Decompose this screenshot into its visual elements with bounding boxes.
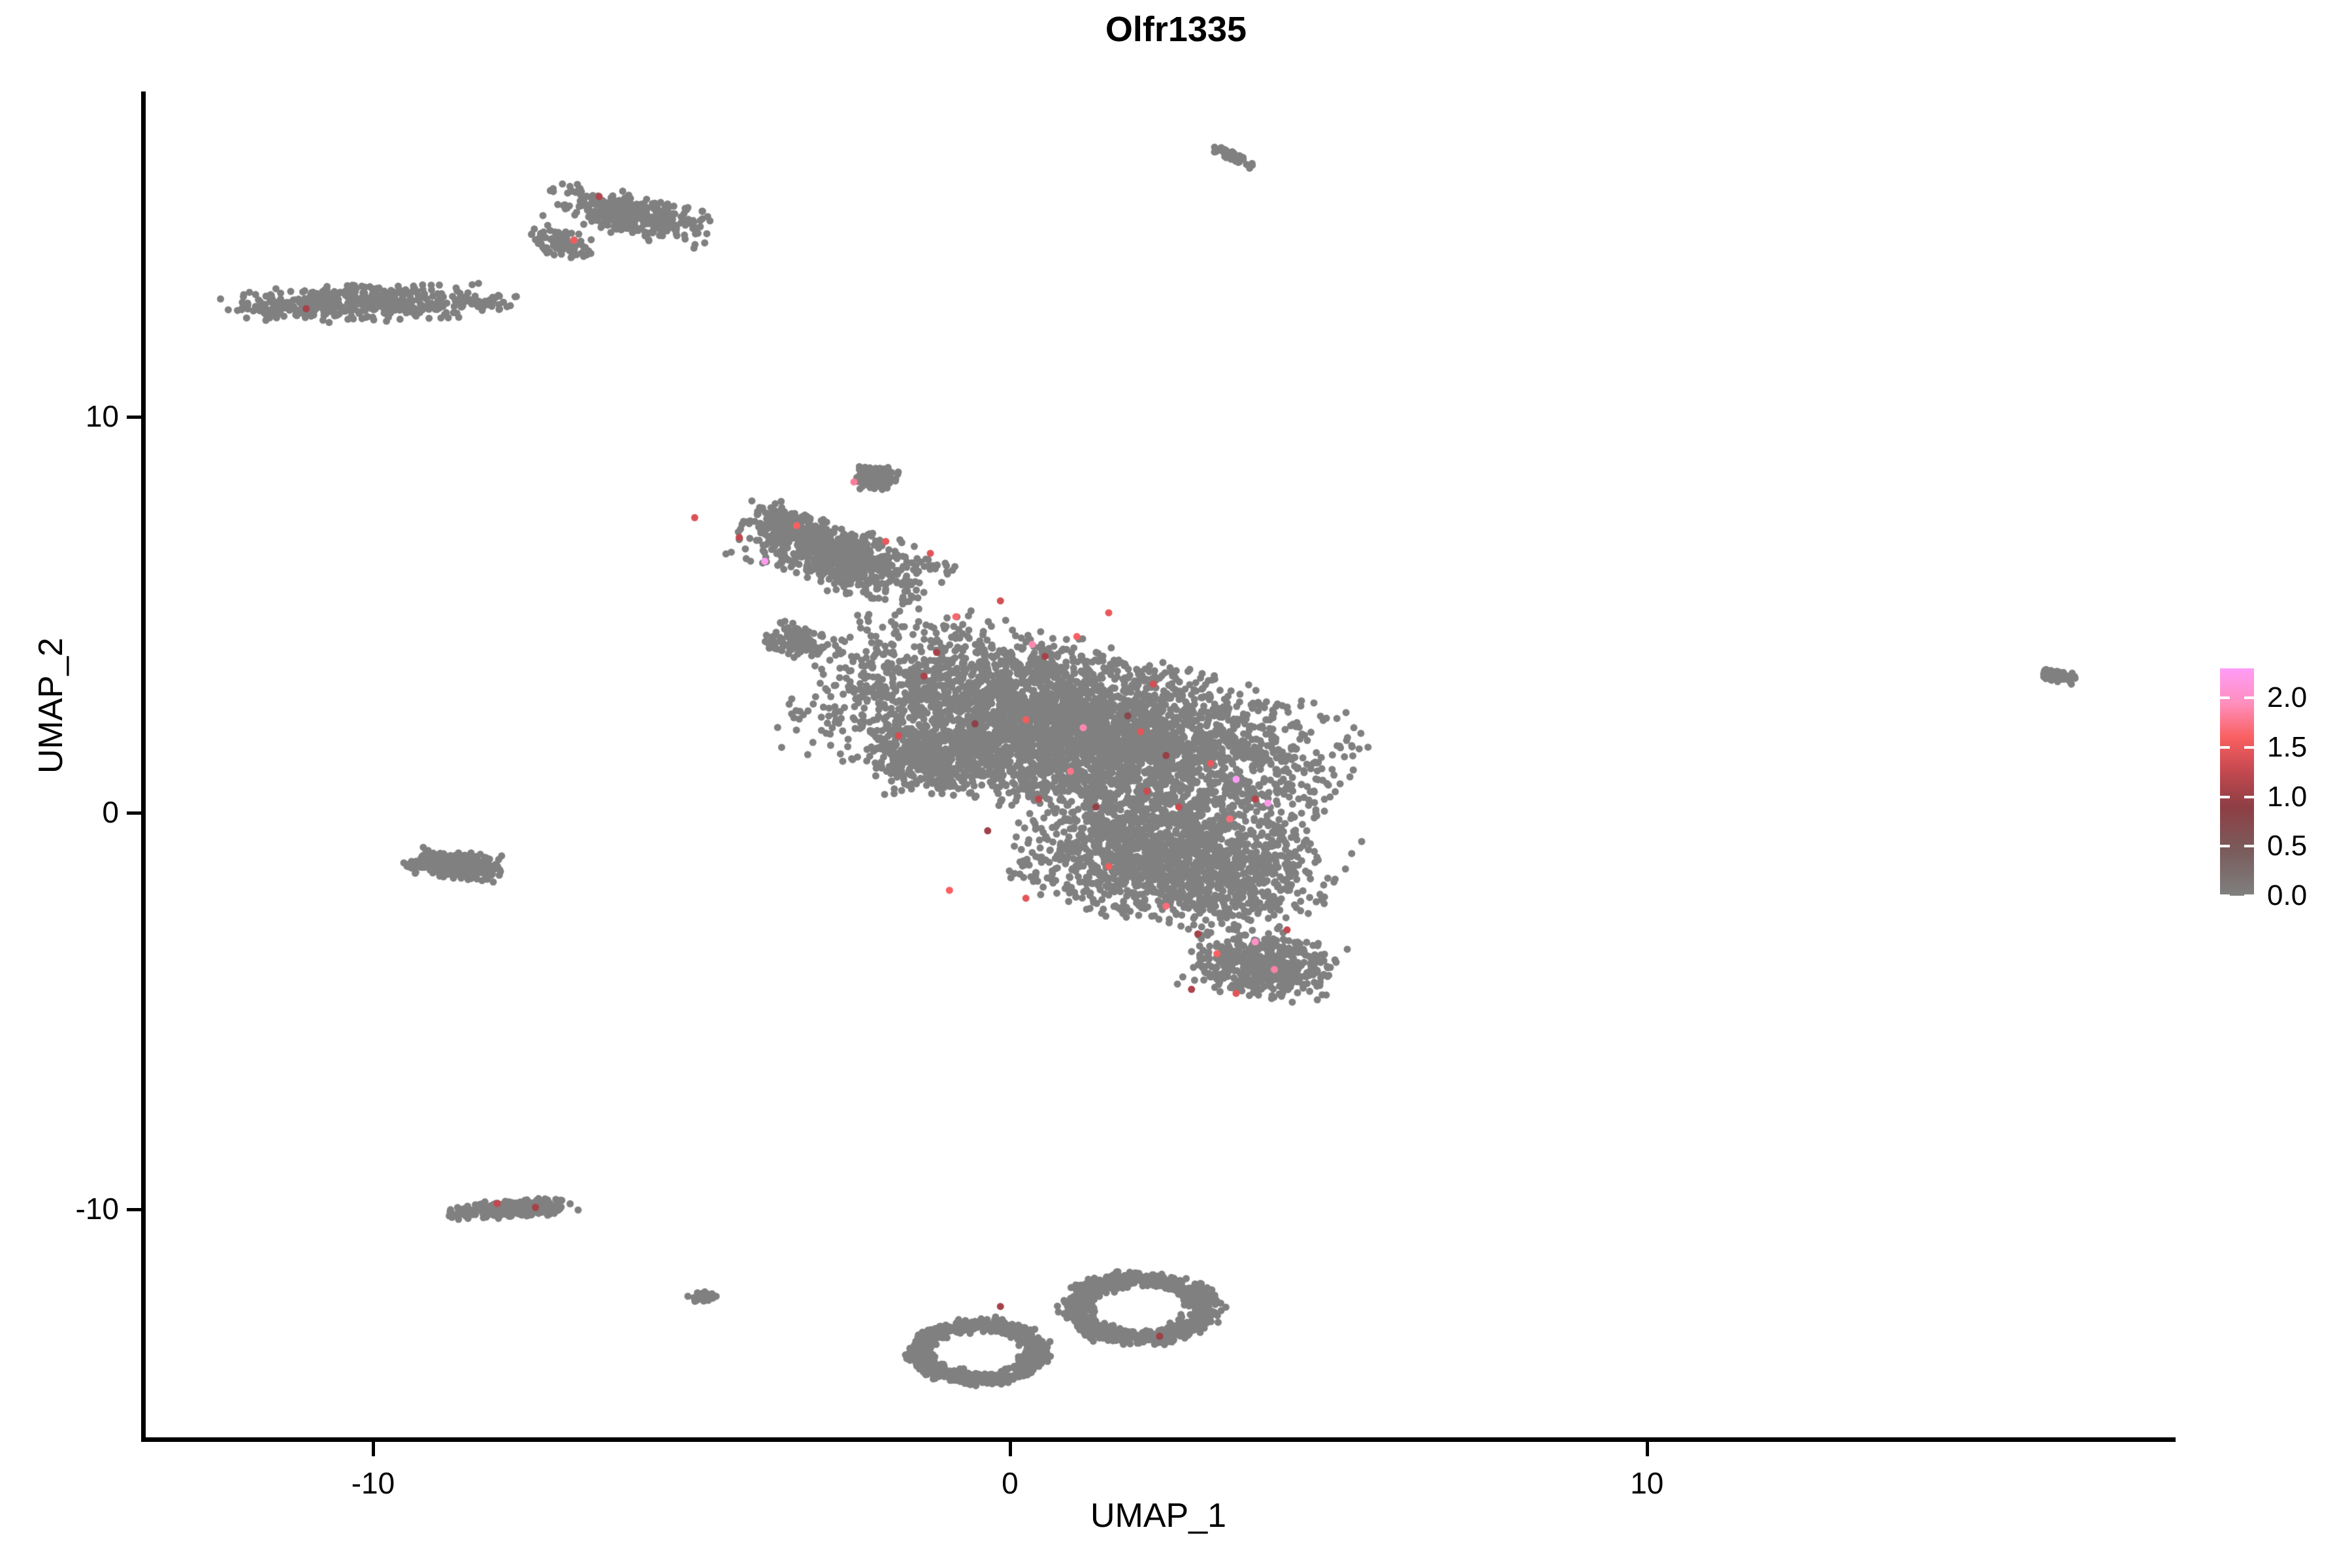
x-tick-mark: [1009, 1442, 1012, 1456]
y-axis-line: [141, 91, 146, 1442]
y-tick-label: 10: [86, 399, 119, 434]
y-tick-mark: [127, 811, 141, 815]
x-tick-mark: [1646, 1442, 1649, 1456]
colorbar-tick-label: 1.0: [2267, 783, 2307, 811]
colorbar-tick-label: 0.0: [2267, 881, 2307, 910]
y-tick-label: 0: [102, 794, 119, 830]
expression-colorbar-legend: 0.00.51.01.52.0: [2220, 668, 2351, 897]
x-axis-line: [141, 1437, 2176, 1442]
scatter-plot-canvas: [144, 91, 2176, 1439]
colorbar-gradient: [2220, 668, 2254, 896]
plot-panel: [144, 91, 2176, 1439]
x-tick-label: 0: [945, 1465, 1075, 1501]
colorbar-tick-label: 0.5: [2267, 832, 2307, 860]
umap-feature-plot: Olfr1335 -10010 -10010 UMAP_2 UMAP_1 0.0…: [0, 0, 2352, 1568]
y-tick-label: -10: [76, 1191, 119, 1226]
x-axis-title: UMAP_1: [141, 1496, 2176, 1535]
x-tick-label: -10: [308, 1465, 438, 1501]
y-axis-title: UMAP_2: [31, 575, 71, 836]
y-tick-mark: [127, 416, 141, 419]
page-title: Olfr1335: [0, 0, 2352, 50]
y-tick-mark: [127, 1208, 141, 1211]
colorbar-tick-label: 1.5: [2267, 733, 2307, 762]
x-tick-label: 10: [1582, 1465, 1712, 1501]
x-tick-mark: [372, 1442, 375, 1456]
colorbar-tick-label: 2.0: [2267, 683, 2307, 712]
